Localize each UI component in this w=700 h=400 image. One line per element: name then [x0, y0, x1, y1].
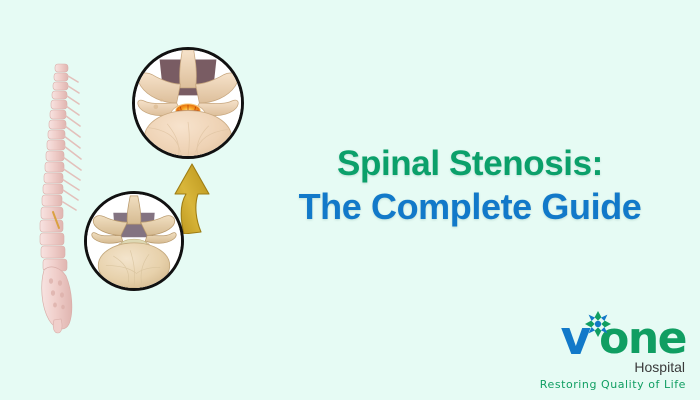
vone-hospital-logo[interactable]: v one	[518, 311, 686, 392]
logo-wordmark: v one	[518, 311, 686, 359]
headline-line-2: The Complete Guide	[250, 185, 690, 228]
logo-tagline: Restoring Quality of Life	[518, 378, 686, 392]
headline-block: Spinal Stenosis: The Complete Guide	[250, 142, 690, 228]
headline-line-1: Spinal Stenosis:	[250, 142, 690, 185]
star-flower-icon	[584, 310, 612, 338]
spine-illustration	[24, 62, 94, 334]
logo-word-one: one	[599, 319, 686, 359]
stenotic-vertebra-cross-section	[132, 47, 244, 159]
normal-vertebra-cross-section	[84, 191, 184, 291]
promotional-banner: Spinal Stenosis: The Complete Guide v on…	[0, 0, 700, 400]
